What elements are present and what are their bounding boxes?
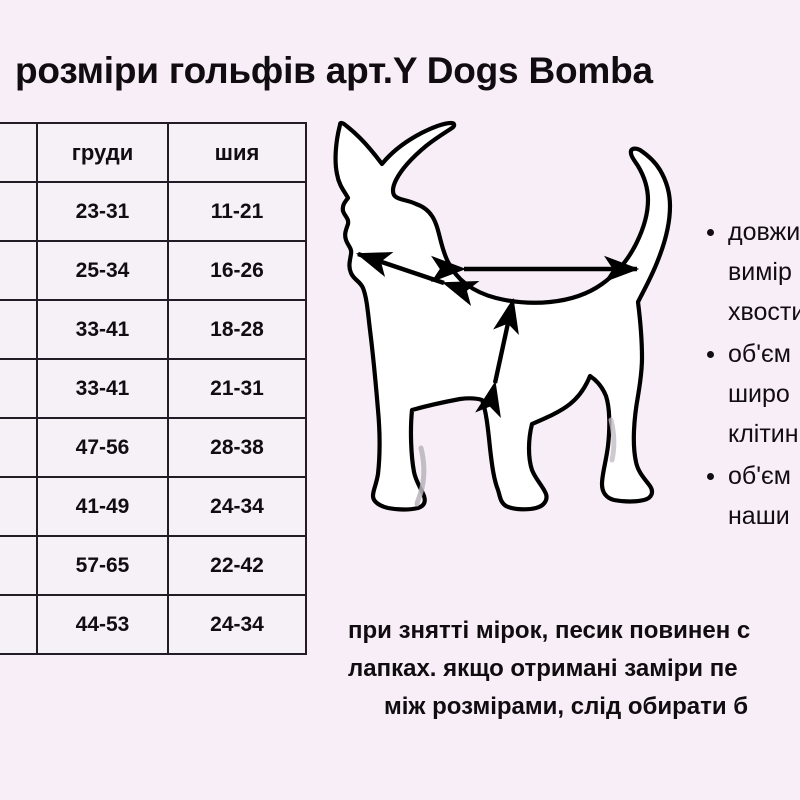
bullet-dot-icon — [707, 351, 714, 358]
list-item: об'єм наши — [703, 456, 800, 536]
dog-illustration — [318, 118, 708, 528]
cell-length — [0, 182, 37, 241]
leg-shading-rear — [611, 420, 614, 460]
cell-length — [0, 477, 37, 536]
note-text-line: при знятті мірок, песик повинен с — [348, 612, 800, 650]
bullet-dot-icon — [707, 229, 714, 236]
bullet-text-line: широ — [728, 374, 800, 414]
table-header-row: а груди шия — [0, 123, 306, 182]
cell-chest: 33-41 — [37, 359, 168, 418]
cell-length — [0, 300, 37, 359]
cell-chest: 44-53 — [37, 595, 168, 654]
measurement-note: при знятті мірок, песик повинен с лапках… — [348, 612, 800, 726]
cell-length — [0, 418, 37, 477]
cell-chest: 57-65 — [37, 536, 168, 595]
cell-chest: 41-49 — [37, 477, 168, 536]
table-header-cell-neck: шия — [168, 123, 306, 182]
list-item: об'єм широ клітин — [703, 334, 800, 454]
cell-length — [0, 595, 37, 654]
bullet-text-line: довжи — [728, 212, 800, 252]
bullet-text-line: клітин — [728, 414, 800, 454]
bullet-text-line: наши — [728, 496, 800, 536]
table-row: 44-53 24-34 — [0, 595, 306, 654]
list-item: довжи вимір хвости — [703, 212, 800, 332]
note-text-line: між розмірами, слід обирати б — [348, 688, 800, 726]
bullet-text-line: вимір — [728, 252, 800, 292]
size-table: а груди шия 23-31 11-21 25-34 16-26 33-4… — [0, 122, 307, 655]
cell-neck: 22-42 — [168, 536, 306, 595]
note-text-line: лапках. якщо отримані заміри пе — [348, 650, 800, 688]
cell-length — [0, 241, 37, 300]
bullet-dot-icon — [707, 473, 714, 480]
cell-neck: 28-38 — [168, 418, 306, 477]
table-header-cell-chest: груди — [37, 123, 168, 182]
cell-chest: 23-31 — [37, 182, 168, 241]
page-title: розміри гольфів арт.Y Dogs Bomba — [15, 48, 800, 94]
table-row: 57-65 22-42 — [0, 536, 306, 595]
cell-neck: 11-21 — [168, 182, 306, 241]
dog-body-outline — [336, 123, 670, 510]
bullet-text-line: об'єм — [728, 456, 800, 496]
cell-neck: 18-28 — [168, 300, 306, 359]
measurement-instructions-list: довжи вимір хвости об'єм широ клітин об'… — [703, 212, 800, 538]
table-header-cell-length: а — [0, 123, 37, 182]
cell-length — [0, 536, 37, 595]
table-row: 33-41 18-28 — [0, 300, 306, 359]
cell-chest: 25-34 — [37, 241, 168, 300]
table-row: 33-41 21-31 — [0, 359, 306, 418]
cell-neck: 24-34 — [168, 595, 306, 654]
size-chart-page: розміри гольфів арт.Y Dogs Bomba а груди… — [0, 0, 800, 800]
cell-chest: 47-56 — [37, 418, 168, 477]
bullet-text-line: об'єм — [728, 334, 800, 374]
cell-neck: 24-34 — [168, 477, 306, 536]
cell-neck: 21-31 — [168, 359, 306, 418]
bullet-text-line: хвости — [728, 292, 800, 332]
cell-neck: 16-26 — [168, 241, 306, 300]
table-row: 41-49 24-34 — [0, 477, 306, 536]
cell-length — [0, 359, 37, 418]
table-row: 23-31 11-21 — [0, 182, 306, 241]
table-row: 47-56 28-38 — [0, 418, 306, 477]
cell-chest: 33-41 — [37, 300, 168, 359]
table-row: 25-34 16-26 — [0, 241, 306, 300]
